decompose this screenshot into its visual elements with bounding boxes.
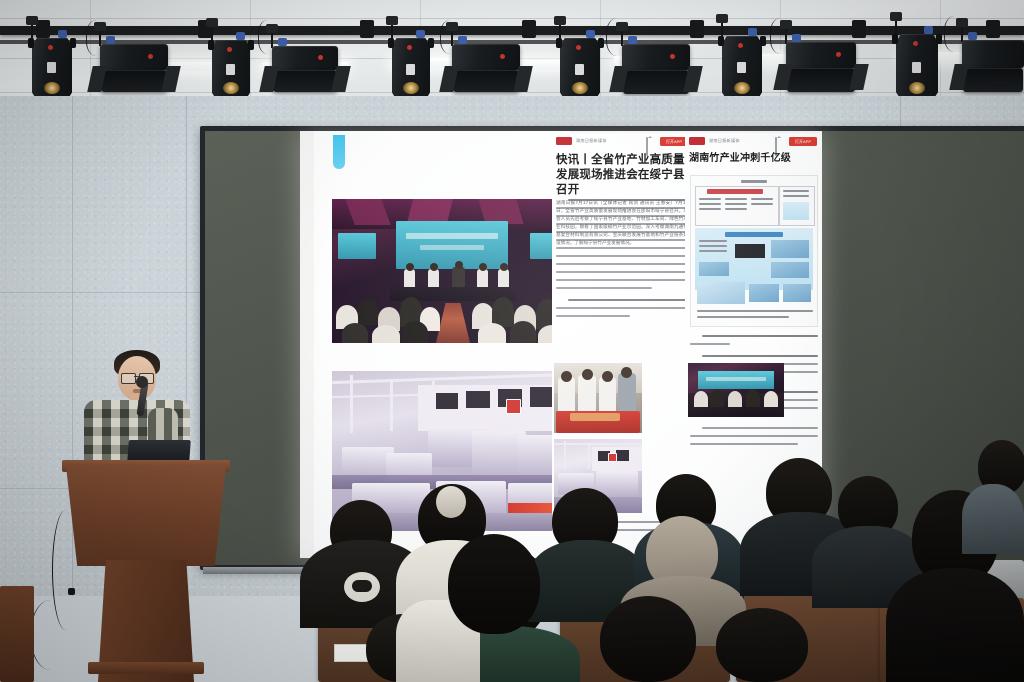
- article-headline: 快讯丨全省竹产业高质量发展现场推进会在绥宁县召开: [556, 153, 688, 198]
- blue-accent-bar: [333, 135, 345, 169]
- exit-sign-icon: [506, 399, 521, 414]
- hair-clip: [436, 486, 466, 518]
- conference-hall-photo: [332, 199, 570, 343]
- site-name-right: 湖南日报新媒体: [709, 138, 740, 144]
- lighting-truss: [0, 26, 1024, 35]
- seat-number-tag: [334, 644, 368, 662]
- article-body: 湖南日报7月17日讯（全媒体记者 蒋剑 通讯员 王春安）7月17日，全省竹产业高…: [556, 199, 688, 323]
- side-table: [0, 586, 34, 682]
- site-name: 湖南日报新媒体: [576, 138, 607, 144]
- lectern-body: [66, 466, 226, 566]
- news-site-header: 湖南日报新媒体: [556, 137, 607, 145]
- floor-cable: [30, 600, 71, 670]
- eyeglasses-left-lens: [121, 373, 136, 384]
- officials-inspection-photo: [554, 363, 642, 433]
- open-app-button-right[interactable]: 打开APP: [789, 137, 817, 146]
- newspaper-logo-icon: [689, 137, 705, 145]
- open-app-button[interactable]: 打开APP: [660, 137, 688, 146]
- lectern-base: [88, 662, 204, 674]
- conference-stage-photo-2: [688, 363, 784, 417]
- projected-slide: 湖南日报新媒体 打开APP 快讯丨全省竹产业高质量发展现场推进会在绥宁县召开: [300, 131, 822, 558]
- newspaper-logo-icon: [556, 137, 572, 145]
- newspaper-headline: 湖南竹产业冲刺千亿级: [689, 152, 821, 165]
- news-site-header-right: 湖南日报新媒体: [689, 137, 740, 145]
- cable-clip: [68, 588, 75, 595]
- newspaper-infographic-thumbnail: [690, 175, 818, 327]
- photograph-scene: 湖南日报新媒体 打开APP 快讯丨全省竹产业高质量发展现场推进会在绥宁县召开: [0, 0, 1024, 682]
- microphone-head: [136, 376, 148, 388]
